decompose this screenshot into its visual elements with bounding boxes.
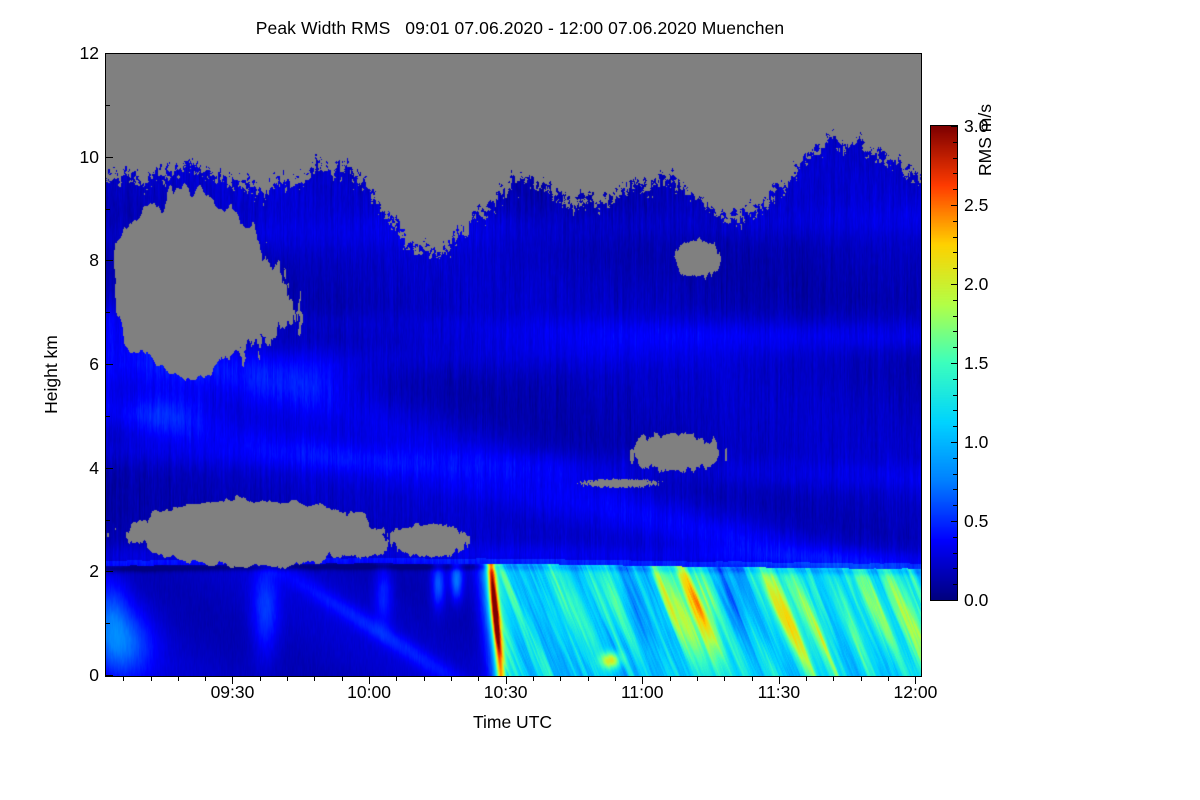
x-tick-mark-minor bbox=[178, 676, 179, 681]
y-tick-mark-minor bbox=[105, 520, 110, 521]
y-tick-label: 10 bbox=[65, 149, 99, 167]
x-tick-mark-minor bbox=[806, 676, 807, 681]
y-tick-label: 0 bbox=[65, 667, 99, 685]
colorbar-title: RMS m/s bbox=[975, 40, 996, 240]
colorbar-tick-mark-minor bbox=[953, 379, 957, 380]
y-tick-label: 12 bbox=[65, 45, 99, 63]
x-tick-mark bbox=[779, 676, 780, 684]
colorbar-tick-mark-minor bbox=[953, 158, 957, 159]
x-tick-label: 10:00 bbox=[314, 684, 424, 702]
x-tick-mark-minor bbox=[533, 676, 534, 681]
x-tick-mark-minor bbox=[752, 676, 753, 681]
colorbar-tick-mark-minor bbox=[953, 221, 957, 222]
colorbar-tick-mark bbox=[951, 442, 957, 443]
colorbar-tick-mark bbox=[951, 363, 957, 364]
x-tick-mark-minor bbox=[560, 676, 561, 681]
colorbar-tick-mark-minor bbox=[953, 568, 957, 569]
colorbar-tick-mark-minor bbox=[953, 410, 957, 411]
y-tick-mark bbox=[105, 571, 113, 572]
y-axis-title: Height km bbox=[41, 275, 62, 475]
x-tick-mark-minor bbox=[287, 676, 288, 681]
colorbar-tick-mark-minor bbox=[953, 347, 957, 348]
x-tick-mark-minor bbox=[451, 676, 452, 681]
y-tick-mark bbox=[105, 675, 113, 676]
colorbar-tick-label: 0.5 bbox=[964, 513, 988, 531]
x-tick-mark-minor bbox=[205, 676, 206, 681]
x-tick-mark-minor bbox=[888, 676, 889, 681]
y-tick-label: 6 bbox=[65, 356, 99, 374]
x-tick-mark bbox=[506, 676, 507, 684]
x-tick-mark-minor bbox=[123, 676, 124, 681]
x-tick-mark bbox=[915, 676, 916, 684]
x-tick-label: 11:00 bbox=[587, 684, 697, 702]
figure-canvas: Peak Width RMS 09:01 07.06.2020 - 12:00 … bbox=[0, 0, 1200, 800]
x-tick-mark-minor bbox=[342, 676, 343, 681]
colorbar-tick-mark-minor bbox=[953, 316, 957, 317]
y-axis-title-container: Height km bbox=[20, 53, 44, 675]
colorbar-tick-mark-minor bbox=[953, 553, 957, 554]
x-tick-mark-minor bbox=[260, 676, 261, 681]
x-tick-label: 11:30 bbox=[724, 684, 834, 702]
x-tick-mark bbox=[642, 676, 643, 684]
x-tick-label: 09:30 bbox=[177, 684, 287, 702]
page-title: Peak Width RMS 09:01 07.06.2020 - 12:00 … bbox=[0, 18, 1040, 39]
colorbar-tick-mark-minor bbox=[953, 300, 957, 301]
y-tick-mark-minor bbox=[105, 209, 110, 210]
colorbar-tick-mark-minor bbox=[953, 395, 957, 396]
colorbar-tick-label: 0.0 bbox=[964, 592, 988, 610]
y-tick-mark bbox=[105, 468, 113, 469]
colorbar-tick-label: 1.0 bbox=[964, 434, 988, 452]
x-tick-mark-minor bbox=[396, 676, 397, 681]
heatmap-plot-area[interactable] bbox=[105, 53, 922, 677]
colorbar-tick-mark-minor bbox=[953, 426, 957, 427]
y-tick-label: 4 bbox=[65, 460, 99, 478]
colorbar-tick-mark bbox=[951, 126, 957, 127]
y-tick-mark bbox=[105, 260, 113, 261]
colorbar-tick-mark-minor bbox=[953, 458, 957, 459]
y-tick-mark-minor bbox=[105, 312, 110, 313]
x-tick-mark-minor bbox=[588, 676, 589, 681]
colorbar-tick-mark-minor bbox=[953, 537, 957, 538]
time-height-heatmap[interactable] bbox=[106, 54, 921, 676]
colorbar-tick-mark-minor bbox=[953, 584, 957, 585]
colorbar-tick-mark-minor bbox=[953, 505, 957, 506]
colorbar-tick-label: 1.5 bbox=[964, 355, 988, 373]
y-tick-mark bbox=[105, 364, 113, 365]
x-tick-mark bbox=[232, 676, 233, 684]
x-axis-title: Time UTC bbox=[105, 712, 920, 733]
x-tick-mark-minor bbox=[478, 676, 479, 681]
colorbar-tick-mark bbox=[951, 521, 957, 522]
colorbar-tick-mark-minor bbox=[953, 331, 957, 332]
x-tick-mark-minor bbox=[670, 676, 671, 681]
colorbar-tick-mark bbox=[951, 600, 957, 601]
x-tick-mark-minor bbox=[697, 676, 698, 681]
x-tick-mark-minor bbox=[833, 676, 834, 681]
x-tick-mark-minor bbox=[724, 676, 725, 681]
y-tick-mark-minor bbox=[105, 105, 110, 106]
colorbar-tick-mark-minor bbox=[953, 252, 957, 253]
x-tick-mark bbox=[369, 676, 370, 684]
colorbar-tick-mark-minor bbox=[953, 237, 957, 238]
x-tick-label: 12:00 bbox=[860, 684, 970, 702]
y-tick-mark bbox=[105, 53, 113, 54]
colorbar-tick-mark bbox=[951, 284, 957, 285]
x-tick-mark-minor bbox=[615, 676, 616, 681]
colorbar-tick-mark-minor bbox=[953, 189, 957, 190]
colorbar-tick-mark-minor bbox=[953, 474, 957, 475]
x-axis-tick-labels: 09:3010:0010:3011:0011:3012:00 bbox=[105, 684, 920, 710]
x-tick-mark-minor bbox=[314, 676, 315, 681]
y-tick-mark bbox=[105, 157, 113, 158]
y-tick-mark-minor bbox=[105, 623, 110, 624]
colorbar-tick-label: 2.0 bbox=[964, 276, 988, 294]
x-tick-mark-minor bbox=[424, 676, 425, 681]
y-tick-label: 8 bbox=[65, 252, 99, 270]
colorbar-tick-mark-minor bbox=[953, 489, 957, 490]
x-tick-mark-minor bbox=[151, 676, 152, 681]
colorbar-tick-mark-minor bbox=[953, 142, 957, 143]
x-tick-label: 10:30 bbox=[451, 684, 561, 702]
colorbar-tick-mark-minor bbox=[953, 173, 957, 174]
x-tick-mark-minor bbox=[861, 676, 862, 681]
colorbar-tick-mark-minor bbox=[953, 268, 957, 269]
y-tick-label: 2 bbox=[65, 563, 99, 581]
colorbar-tick-mark bbox=[951, 205, 957, 206]
y-tick-mark-minor bbox=[105, 416, 110, 417]
